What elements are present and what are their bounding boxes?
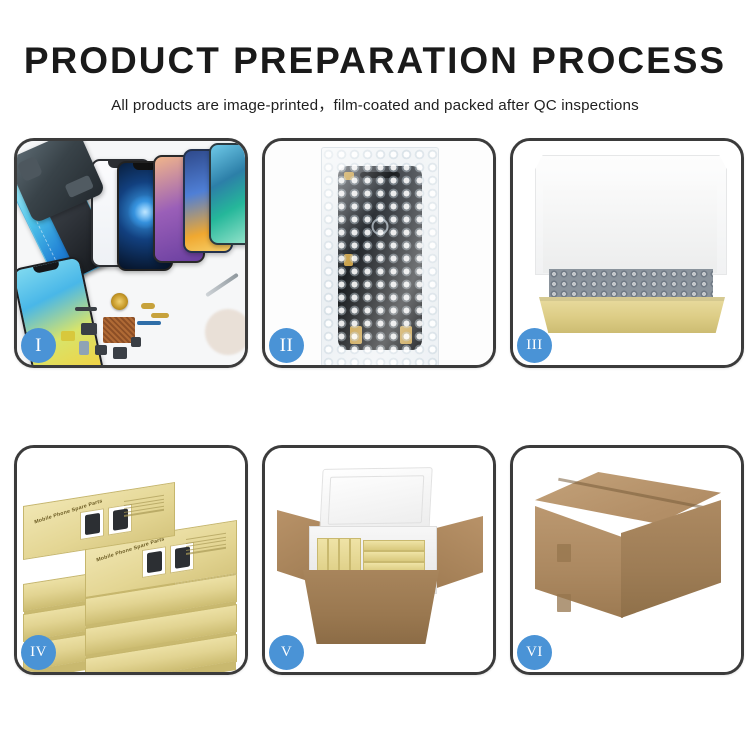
- process-step-4: Mobile Phone Spare Parts Mobile Phone Sp…: [14, 445, 248, 675]
- technician-hand: [205, 309, 245, 355]
- step-frame: V: [262, 445, 496, 675]
- step-badge-2: II: [269, 328, 304, 363]
- step-frame: VI: [510, 445, 744, 675]
- step-badge-6: VI: [517, 635, 552, 670]
- foam-sheet: [543, 181, 717, 273]
- vibrator-motor: [95, 345, 107, 355]
- stacked-boxes-photo: Mobile Phone Spare Parts Mobile Phone Sp…: [17, 448, 245, 672]
- step-badge-3: III: [517, 328, 552, 363]
- step-badge-4: IV: [21, 635, 56, 670]
- bubble-wrap-bag: [321, 147, 439, 365]
- process-step-5: V: [262, 445, 496, 675]
- inner-box-photo: [513, 141, 741, 365]
- bubble-wrap-layer: [549, 269, 713, 299]
- phone-screen-teal: [209, 143, 245, 245]
- carton-flap-right: [431, 516, 483, 590]
- carton-left-face: [535, 506, 623, 618]
- gold-connector: [141, 303, 155, 309]
- battery-cell: [61, 331, 75, 341]
- page-title: PRODUCT PREPARATION PROCESS: [0, 42, 750, 81]
- step-frame: Mobile Phone Spare Parts Mobile Phone Sp…: [14, 445, 248, 675]
- process-step-2: II: [262, 138, 496, 368]
- box-stack: Mobile Phone Spare Parts Mobile Phone Sp…: [23, 468, 241, 664]
- small-part-strip: [75, 307, 97, 311]
- page-subtitle: All products are image-printed，film-coat…: [0, 93, 750, 115]
- label-detail-lines: [124, 495, 164, 519]
- antenna-flex: [137, 321, 161, 325]
- foam-box-lid: [319, 467, 432, 533]
- sim-tray: [131, 337, 141, 347]
- process-step-6: VI: [510, 445, 744, 675]
- tweezers-tool: [205, 273, 239, 298]
- step-frame: II: [262, 138, 496, 368]
- bubble-wrap-photo: [265, 141, 493, 365]
- step-frame: III: [510, 138, 744, 368]
- step-badge-5: V: [269, 635, 304, 670]
- sealed-carton-photo: [513, 448, 741, 672]
- label-detail-lines: [186, 533, 226, 557]
- process-steps-grid: I: [14, 138, 736, 675]
- step-frame: I: [14, 138, 248, 368]
- speaker-module: [111, 293, 128, 310]
- plastic-sheen: [322, 148, 438, 365]
- ic-chip: [81, 323, 97, 335]
- kraft-box-base: [539, 297, 725, 333]
- header: PRODUCT PREPARATION PROCESS All products…: [0, 0, 750, 115]
- gold-flex-cable: [151, 313, 169, 318]
- camera-module: [79, 341, 89, 355]
- taptic-engine: [113, 347, 127, 359]
- phone-parts-photo: [17, 141, 245, 365]
- process-step-1: I: [14, 138, 248, 368]
- tape-patch-lower: [557, 594, 571, 612]
- foam-carton-photo: [265, 448, 493, 672]
- carton-front-panel: [303, 570, 439, 644]
- tape-patch-upper: [557, 544, 571, 562]
- product-preparation-infographic: PRODUCT PREPARATION PROCESS All products…: [0, 0, 750, 750]
- step-badge-1: I: [21, 328, 56, 363]
- process-step-3: III: [510, 138, 744, 368]
